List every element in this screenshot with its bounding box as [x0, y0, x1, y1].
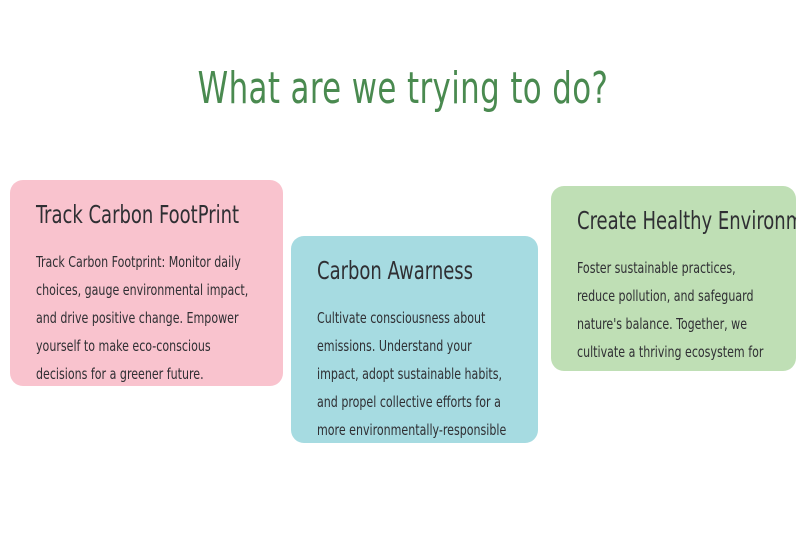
card-body-text: Track Carbon Footprint: Monitor daily ch…	[36, 248, 257, 386]
page-title: What are we trying to do?	[89, 67, 718, 111]
card-body-text: Foster sustainable practices, reduce pol…	[577, 254, 770, 371]
card-heading: Create Healthy Environment	[577, 208, 731, 234]
card-heading: Carbon Awarness	[317, 258, 473, 284]
card-track-carbon-footprint: Track Carbon FootPrint Track Carbon Foot…	[10, 180, 283, 386]
card-create-healthy-environment: Create Healthy Environment Foster sustai…	[551, 186, 796, 371]
card-carbon-awarness: Carbon Awarness Cultivate consciousness …	[291, 236, 538, 443]
card-heading: Track Carbon FootPrint	[36, 202, 213, 228]
slide-canvas: What are we trying to do? Track Carbon F…	[0, 0, 806, 537]
card-body-text: Cultivate consciousness about emissions.…	[317, 304, 512, 443]
